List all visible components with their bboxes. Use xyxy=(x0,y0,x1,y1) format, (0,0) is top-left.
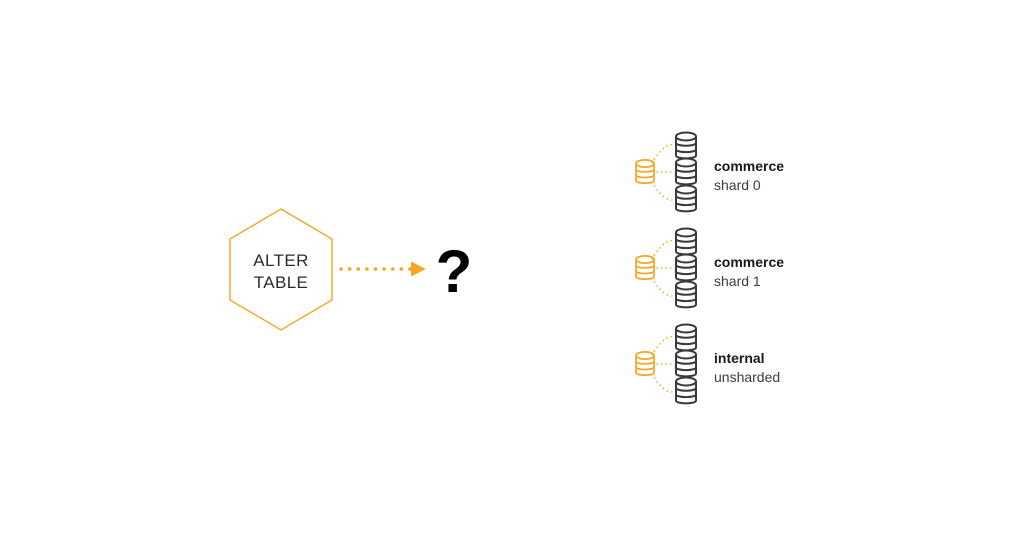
alter-table-label-line2: TABLE xyxy=(254,273,309,292)
connector-top xyxy=(652,145,676,163)
cluster-connectors xyxy=(652,241,676,296)
connector-top xyxy=(652,337,676,355)
keyspace-shard-label: shard 0 xyxy=(714,177,761,193)
connector-top xyxy=(652,241,676,259)
cluster-group[interactable]: internal unsharded xyxy=(636,325,780,404)
keyspace-name: commerce xyxy=(714,254,784,270)
replica-database-cylinder-icon xyxy=(676,229,696,255)
sharding-diagram: ALTER TABLE ? xyxy=(0,0,1024,540)
replica-database-cylinder-icon xyxy=(676,186,696,212)
replica-database-cylinder-icon xyxy=(676,159,696,185)
question-mark-icon: ? xyxy=(436,238,473,305)
keyspace-name: commerce xyxy=(714,158,784,174)
cluster-connectors xyxy=(652,337,676,392)
keyspace-shard-label: unsharded xyxy=(714,369,780,385)
keyspace-name: internal xyxy=(714,350,765,366)
cluster-group[interactable]: commerce shard 0 xyxy=(636,133,784,212)
replica-database-cylinder-icon xyxy=(676,255,696,281)
replica-database-cylinder-icon xyxy=(676,351,696,377)
replica-database-cylinder-icon xyxy=(676,378,696,404)
arrow-right-icon xyxy=(341,262,426,277)
cluster-group[interactable]: commerce shard 1 xyxy=(636,229,784,308)
keyspace-shard-label: shard 1 xyxy=(714,273,761,289)
replica-database-cylinder-icon xyxy=(676,133,696,159)
connector-bottom xyxy=(652,278,676,296)
alter-table-label-line1: ALTER xyxy=(253,251,309,270)
alter-table-node[interactable]: ALTER TABLE xyxy=(230,209,332,330)
replica-database-cylinder-icon xyxy=(676,325,696,351)
connector-bottom xyxy=(652,182,676,200)
replica-database-cylinder-icon xyxy=(676,282,696,308)
cluster-connectors xyxy=(652,145,676,200)
connector-bottom xyxy=(652,374,676,392)
arrow-head xyxy=(411,262,426,277)
diagram-canvas: ALTER TABLE ? xyxy=(0,0,1024,540)
